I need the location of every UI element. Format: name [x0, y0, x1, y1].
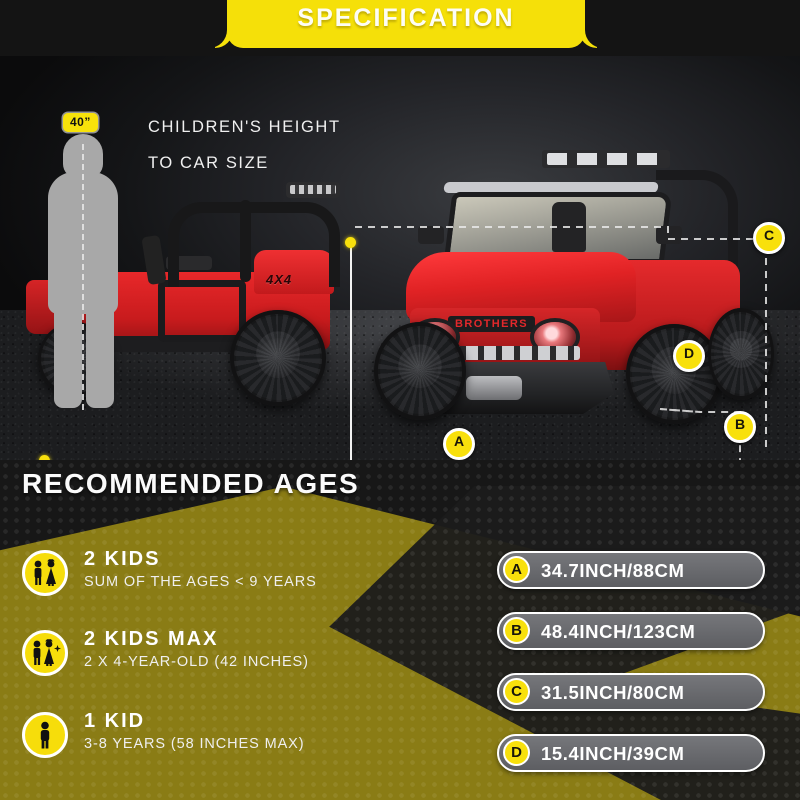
rear-tire-right: [708, 308, 774, 400]
photo-heading-line-2: TO CAR SIZE: [148, 154, 269, 173]
side-light-bar: [286, 182, 340, 198]
dimension-pill-d[interactable]: D 15.4INCH/39CM: [497, 734, 765, 772]
age-row-two-kids: 2 KIDS SUM OF THE AGES < 9 YEARS: [22, 548, 462, 610]
product-photo-panel: CHILDREN'S HEIGHT TO CAR SIZE 4X4: [0, 56, 800, 460]
dimension-marker-b[interactable]: B: [724, 411, 756, 443]
pill-value: 15.4INCH/39CM: [541, 743, 685, 765]
side-roll-bar: [168, 202, 340, 287]
front-mirror-right: [656, 226, 682, 244]
measure-dot-top: [345, 237, 356, 248]
front-seat: [552, 202, 586, 252]
silhouette-center-dashed-line: [82, 144, 84, 410]
page-title: SPECIFICATION: [227, 4, 585, 33]
pill-key-letter: B: [503, 617, 530, 644]
age-subtext: SUM OF THE AGES < 9 YEARS: [84, 574, 317, 590]
dimension-marker-d[interactable]: D: [673, 340, 705, 372]
front-roof-light-bar: [542, 150, 670, 168]
photo-heading-line-1: CHILDREN'S HEIGHT: [148, 118, 341, 137]
dimension-pill-b[interactable]: B 48.4INCH/123CM: [497, 612, 765, 650]
dimension-marker-a[interactable]: A: [443, 428, 475, 460]
front-view-vehicle: BROTHERS: [356, 140, 776, 440]
pill-key-letter: D: [503, 739, 530, 766]
age-heading: 2 KIDS MAX: [84, 628, 218, 651]
pill-key-letter: A: [503, 556, 530, 583]
dimension-pill-c[interactable]: C 31.5INCH/80CM: [497, 673, 765, 711]
front-tire-left: [374, 322, 466, 420]
side-door-frame: [158, 280, 246, 342]
front-hub-left: [402, 352, 438, 388]
age-row-two-kids-max: 2 KIDS MAX 2 X 4-YEAR-OLD (42 INCHES): [22, 628, 462, 690]
one-kid-icon: [22, 712, 68, 758]
pill-value: 31.5INCH/80CM: [541, 682, 685, 704]
age-subtext: 2 X 4-YEAR-OLD (42 INCHES): [84, 654, 309, 670]
dimension-marker-c[interactable]: C: [753, 222, 785, 254]
side-rear-hub: [258, 338, 298, 378]
side-rear-tire: [230, 310, 326, 406]
height-measure-stem: [350, 242, 352, 460]
height-badge-40: 40”: [63, 113, 98, 132]
front-winch: [466, 376, 522, 400]
front-tire-right: [626, 324, 722, 424]
recommended-ages-title: RECOMMENDED AGES: [22, 468, 359, 500]
side-4x4-decal: 4X4: [266, 272, 292, 287]
age-row-one-kid: 1 KID 3-8 YEARS (58 INCHES MAX): [22, 710, 462, 772]
two-kids-max-icon: [22, 630, 68, 676]
age-subtext: 3-8 YEARS (58 INCHES MAX): [84, 736, 304, 752]
front-brand-badge: BROTHERS: [448, 316, 535, 332]
side-roll-post: [240, 200, 251, 282]
child-height-silhouette: [46, 134, 120, 406]
two-kids-icon: [22, 550, 68, 596]
pill-value: 48.4INCH/123CM: [541, 621, 695, 643]
age-heading: 1 KID: [84, 710, 145, 733]
pill-value: 34.7INCH/88CM: [541, 560, 685, 582]
age-heading: 2 KIDS: [84, 548, 160, 571]
dimension-pill-a[interactable]: A 34.7INCH/88CM: [497, 551, 765, 589]
pill-key-letter: C: [503, 678, 530, 705]
front-mirror-left: [418, 226, 444, 244]
specification-infographic: SPECIFICATION CHILDREN'S HEIGHT TO CAR S…: [0, 0, 800, 800]
